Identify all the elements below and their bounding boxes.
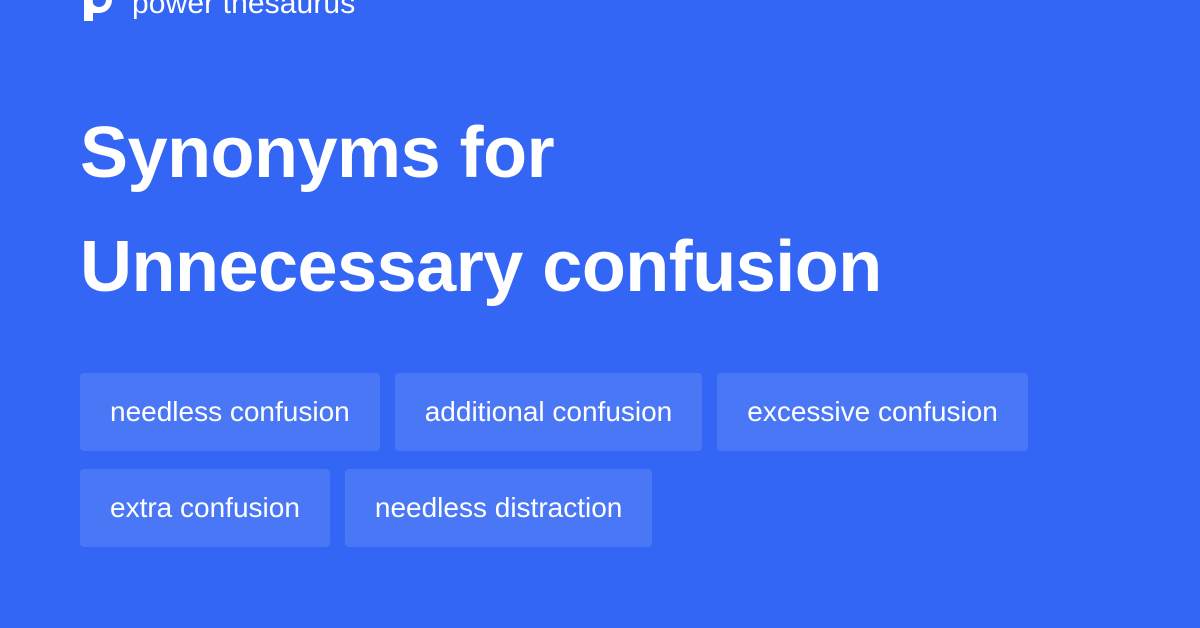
power-thesaurus-p-logo-icon [80, 0, 118, 23]
synonym-chip-label: needless distraction [375, 469, 622, 547]
page-title-line-2: Unnecessary confusion [80, 210, 1120, 324]
synonym-chip[interactable]: additional confusion [395, 373, 703, 451]
brand-logo[interactable]: power thesaurus [80, 0, 355, 26]
synonym-chip[interactable]: needless confusion [80, 373, 380, 451]
synonym-chip[interactable]: excessive confusion [717, 373, 1028, 451]
synonym-chip[interactable]: extra confusion [80, 469, 330, 547]
synonym-chip[interactable]: needless distraction [345, 469, 652, 547]
page-title: Synonyms for Unnecessary confusion [80, 96, 1120, 324]
brand-name: power thesaurus [132, 0, 355, 23]
page-title-line-1: Synonyms for [80, 96, 1120, 210]
synonym-chip-label: needless confusion [110, 373, 350, 451]
synonym-chip-label: excessive confusion [747, 373, 998, 451]
synonym-chip-list: needless confusion additional confusion … [80, 373, 1140, 547]
synonym-chip-label: additional confusion [425, 373, 673, 451]
synonym-chip-label: extra confusion [110, 469, 300, 547]
